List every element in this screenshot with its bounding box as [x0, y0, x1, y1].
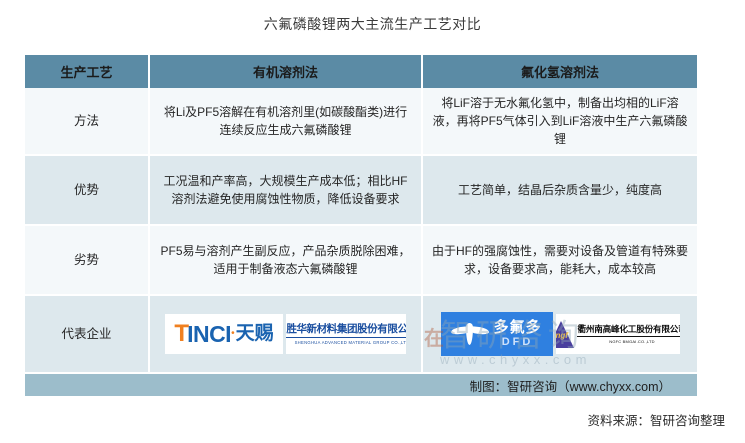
cell-firms-organic: T INCI • 天赐 胜华新材料集团股份有限 [150, 296, 423, 374]
organic-logo-row: T INCI • 天赐 胜华新材料集团股份有限 [156, 314, 415, 354]
bird-right-wing [470, 326, 490, 335]
bird-body [466, 323, 473, 345]
chart-page: 六氟磷酸锂两大主流生产工艺对比 生产工艺 有机溶剂法 氟化氢溶剂法 方法 将Li… [0, 0, 745, 443]
comparison-table-wrapper: 生产工艺 有机溶剂法 氟化氢溶剂法 方法 将Li及PF5溶解在有机溶剂里(如碳酸… [25, 55, 697, 396]
row-label-advantage: 优势 [25, 156, 150, 226]
nangaofeng-english-name: NGFC BMGAI.CO.,LTD [577, 336, 679, 345]
cell-advantage-hf: 工艺简单，结晶后杂质含量少，纯度高 [423, 156, 697, 226]
dfd-english-name: DFD [502, 336, 534, 349]
page-title: 六氟磷酸锂两大主流生产工艺对比 [0, 14, 745, 34]
col-header-process: 生产工艺 [25, 55, 150, 88]
dfd-chinese-name: 多氟多 [493, 319, 541, 336]
tinci-dot-icon: • [231, 325, 235, 343]
tinci-t-letter: T [174, 322, 189, 346]
row-label-representative-firms: 代表企业 [25, 296, 150, 374]
cell-advantage-organic: 工况温和产率高，大规模生产成本低；相比HF溶剂法避免使用腐蚀性物质，降低设备要求 [150, 156, 423, 226]
table-row-disadvantage: 劣势 PF5易与溶剂产生副反应，产品杂质脱除困难，适用于制备液态六氟磷酸锂 由于… [25, 226, 697, 296]
table-header-row: 生产工艺 有机溶剂法 氟化氢溶剂法 [25, 55, 697, 88]
cell-method-organic: 将Li及PF5溶解在有机溶剂里(如碳酸酯类)进行连续反应生成六氟磷酸锂 [150, 88, 423, 156]
nangaofeng-text-block: 衢州南高峰化工股份有限公司 NGFC BMGAI.CO.,LTD [577, 324, 679, 345]
table-footer-bar: 制图：智研咨询（www.chyxx.com） [25, 374, 697, 396]
cell-disadvantage-organic: PF5易与溶剂产生副反应，产品杂质脱除困难，适用于制备液态六氟磷酸锂 [150, 226, 423, 296]
comparison-table: 生产工艺 有机溶剂法 氟化氢溶剂法 方法 将Li及PF5溶解在有机溶剂里(如碳酸… [25, 55, 697, 374]
nangaofeng-logo: ngf 衢州南高峰化工股份有限公司 NGFC BMGAI.CO.,LTD [556, 314, 680, 354]
col-header-hf-solvent: 氟化氢溶剂法 [423, 55, 697, 88]
tinci-logo-inner: T INCI • 天赐 [174, 322, 273, 346]
shenghua-logo-inner: 胜华新材料集团股份有限公司 SHENGHUA ADVANCED MATERIAL… [286, 321, 406, 347]
credit-note: 制图：智研咨询（www.chyxx.com） [470, 376, 671, 395]
cell-firms-hf: 多氟多 DFD ngf [423, 296, 697, 374]
dfd-logo: 多氟多 DFD [441, 312, 553, 356]
table-header: 生产工艺 有机溶剂法 氟化氢溶剂法 [25, 55, 697, 88]
col-header-organic-solvent: 有机溶剂法 [150, 55, 423, 88]
tinci-chinese-text: 天赐 [236, 323, 274, 345]
shenghua-logo: 胜华新材料集团股份有限公司 SHENGHUA ADVANCED MATERIAL… [286, 314, 406, 354]
hf-logo-row: 多氟多 DFD ngf [429, 312, 691, 356]
source-line: 资料来源：智研咨询整理 [587, 410, 725, 429]
row-label-method: 方法 [25, 88, 150, 156]
shenghua-english-name: SHENGHUA ADVANCED MATERIAL GROUP CO.,LTD [286, 337, 406, 346]
table-row-representative-firms: 代表企业 T INCI • 天赐 [25, 296, 697, 374]
tinci-latin-text: INCI [187, 322, 231, 346]
mountain-triangle-icon: ngf [556, 320, 575, 348]
shenghua-text-block: 胜华新材料集团股份有限公司 SHENGHUA ADVANCED MATERIAL… [286, 323, 406, 346]
table-row-method: 方法 将Li及PF5溶解在有机溶剂里(如碳酸酯类)进行连续反应生成六氟磷酸锂 将… [25, 88, 697, 156]
triangle-glyph: ngf [556, 327, 568, 345]
cell-method-hf: 将LiF溶于无水氟化氢中，制备出均相的LiF溶液，再将PF5气体引入到LiF溶液… [423, 88, 697, 156]
table-row-advantage: 优势 工况温和产率高，大规模生产成本低；相比HF溶剂法避免使用腐蚀性物质，降低设… [25, 156, 697, 226]
bird-icon [451, 320, 489, 348]
table-body: 方法 将Li及PF5溶解在有机溶剂里(如碳酸酯类)进行连续反应生成六氟磷酸锂 将… [25, 88, 697, 374]
dfd-text-block: 多氟多 DFD [493, 319, 541, 349]
cell-disadvantage-hf: 由于HF的强腐蚀性，需要对设备及管道有特殊要求，设备要求高，能耗大，成本较高 [423, 226, 697, 296]
row-label-disadvantage: 劣势 [25, 226, 150, 296]
nangaofeng-logo-inner: ngf 衢州南高峰化工股份有限公司 NGFC BMGAI.CO.,LTD [556, 320, 680, 348]
nangaofeng-chinese-name: 衢州南高峰化工股份有限公司 [577, 324, 679, 335]
shenghua-chinese-name: 胜华新材料集团股份有限公司 [286, 323, 406, 336]
tinci-logo: T INCI • 天赐 [165, 314, 283, 354]
